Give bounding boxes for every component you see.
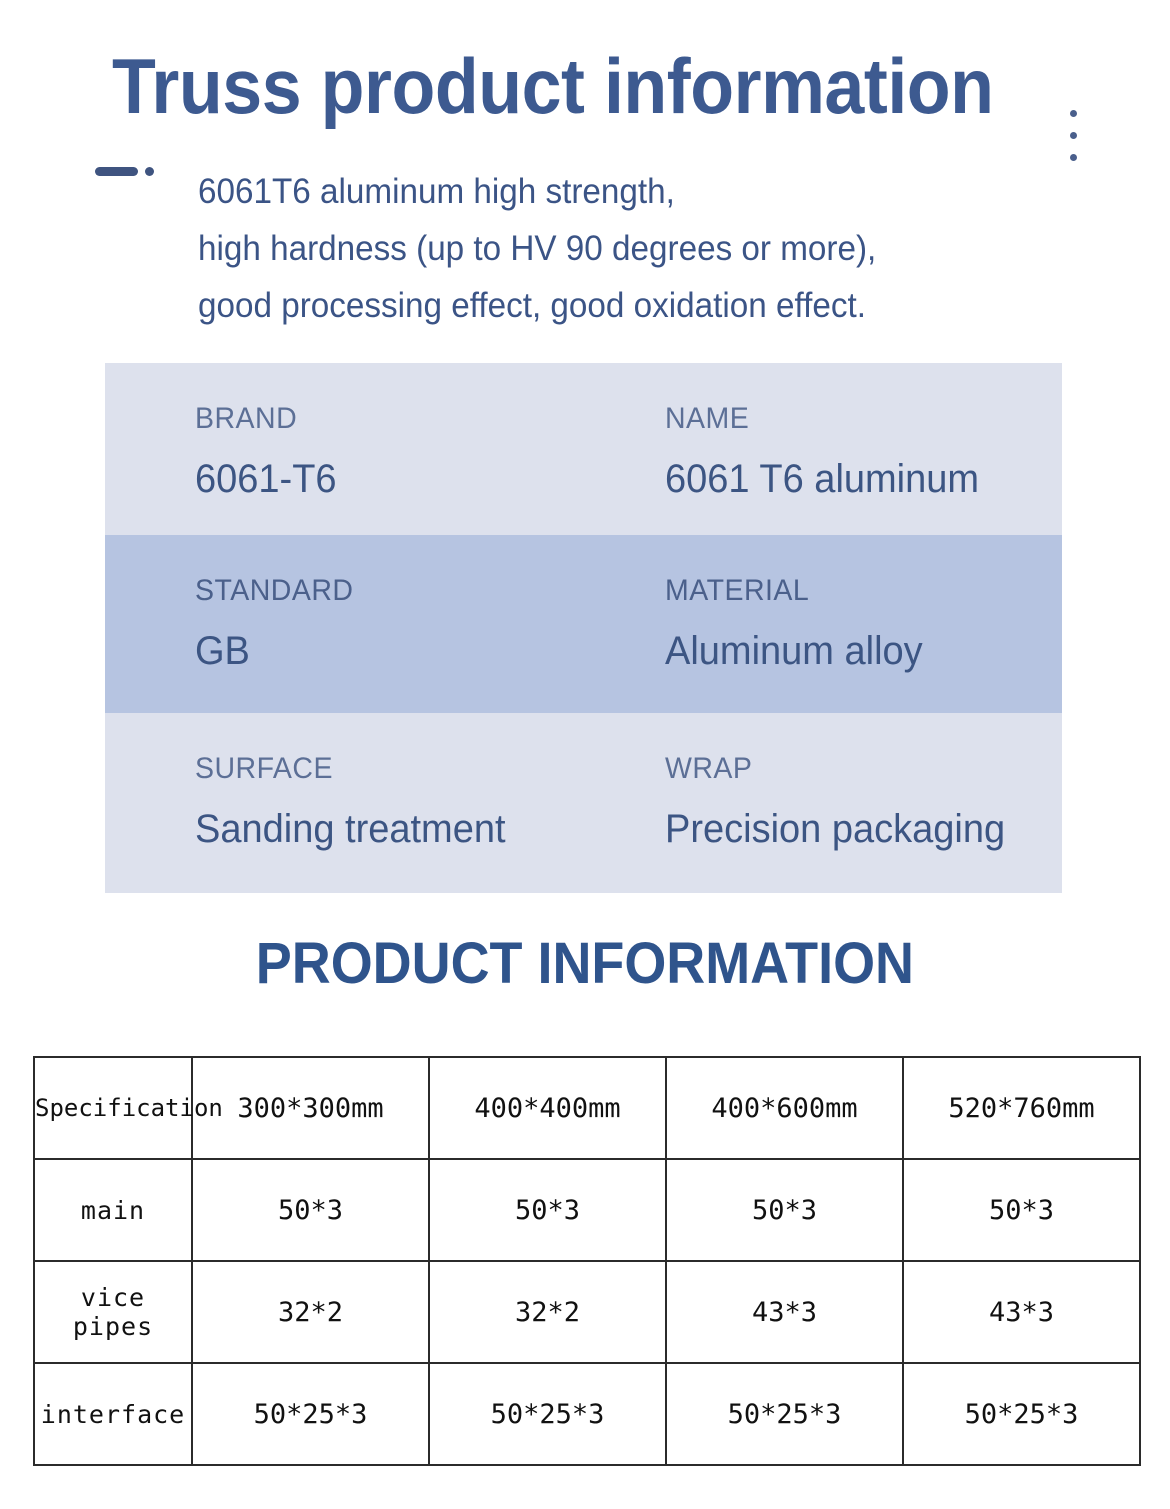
attribute-cell-brand: BRAND 6061-T6 (105, 399, 575, 505)
attribute-value: 6061-T6 (195, 453, 556, 505)
vertical-dots-icon (1070, 110, 1082, 162)
specification-table: Specification 300*300mm 400*400mm 400*60… (33, 1056, 1141, 1466)
table-header-cell: Specification (34, 1057, 192, 1159)
attribute-cell-wrap: WRAP Precision packaging (575, 749, 1062, 863)
table-cell: 32*2 (429, 1261, 666, 1363)
product-attributes-panel: BRAND 6061-T6 NAME 6061 T6 aluminum STAN… (105, 363, 1062, 893)
table-cell: 50*25*3 (903, 1363, 1140, 1465)
attribute-value: GB (195, 625, 556, 677)
table-cell: 50*25*3 (192, 1363, 429, 1465)
attribute-label: WRAP (665, 749, 1042, 789)
table-cell: 50*3 (429, 1159, 666, 1261)
table-header-cell: 400*400mm (429, 1057, 666, 1159)
attribute-value: Precision packaging (665, 803, 1042, 855)
table-row: vice pipes 32*2 32*2 43*3 43*3 (34, 1261, 1140, 1363)
attribute-cell-surface: SURFACE Sanding treatment (105, 749, 575, 863)
attribute-label: BRAND (195, 399, 556, 439)
page-title: Truss product information (112, 40, 994, 132)
section-heading-text: PRODUCT INFORMATION (256, 928, 914, 1000)
table-cell: 43*3 (903, 1261, 1140, 1363)
attribute-label: SURFACE (195, 749, 556, 789)
attribute-cell-name: NAME 6061 T6 aluminum (575, 399, 1062, 505)
attribute-row: STANDARD GB MATERIAL Aluminum alloy (105, 535, 1062, 713)
intro-line-1: 6061T6 aluminum high strength, (198, 163, 1034, 220)
table-cell: 50*25*3 (429, 1363, 666, 1465)
table-row-label: vice pipes (34, 1261, 192, 1363)
attribute-label: MATERIAL (665, 571, 1042, 611)
attribute-value: Sanding treatment (195, 803, 556, 855)
intro-paragraph: 6061T6 aluminum high strength, high hard… (198, 163, 1034, 334)
table-row: interface 50*25*3 50*25*3 50*25*3 50*25*… (34, 1363, 1140, 1465)
table-header-cell: 300*300mm (192, 1057, 429, 1159)
attribute-value: Aluminum alloy (665, 625, 1042, 677)
table-cell: 50*3 (903, 1159, 1140, 1261)
dash-dot-bullet-icon (95, 163, 165, 181)
table-row: main 50*3 50*3 50*3 50*3 (34, 1159, 1140, 1261)
section-heading: PRODUCT INFORMATION (0, 928, 1170, 1000)
table-cell: 50*3 (192, 1159, 429, 1261)
product-information-page: Truss product information 6061T6 aluminu… (0, 0, 1170, 1509)
attribute-value: 6061 T6 aluminum (665, 453, 1042, 505)
table-cell: 43*3 (666, 1261, 903, 1363)
table-header-cell: 400*600mm (666, 1057, 903, 1159)
table-cell: 50*25*3 (666, 1363, 903, 1465)
table-row-label: interface (34, 1363, 192, 1465)
attribute-row: BRAND 6061-T6 NAME 6061 T6 aluminum (105, 363, 1062, 535)
attribute-label: STANDARD (195, 571, 556, 611)
attribute-cell-material: MATERIAL Aluminum alloy (575, 571, 1062, 683)
intro-line-3: good processing effect, good oxidation e… (198, 277, 1034, 334)
attribute-cell-standard: STANDARD GB (105, 571, 575, 683)
attribute-label: NAME (665, 399, 1042, 439)
table-cell: 50*3 (666, 1159, 903, 1261)
table-header-row: Specification 300*300mm 400*400mm 400*60… (34, 1057, 1140, 1159)
attribute-row: SURFACE Sanding treatment WRAP Precision… (105, 713, 1062, 893)
table-row-label: main (34, 1159, 192, 1261)
table-header-cell: 520*760mm (903, 1057, 1140, 1159)
intro-line-2: high hardness (up to HV 90 degrees or mo… (198, 220, 1034, 277)
table-cell: 32*2 (192, 1261, 429, 1363)
